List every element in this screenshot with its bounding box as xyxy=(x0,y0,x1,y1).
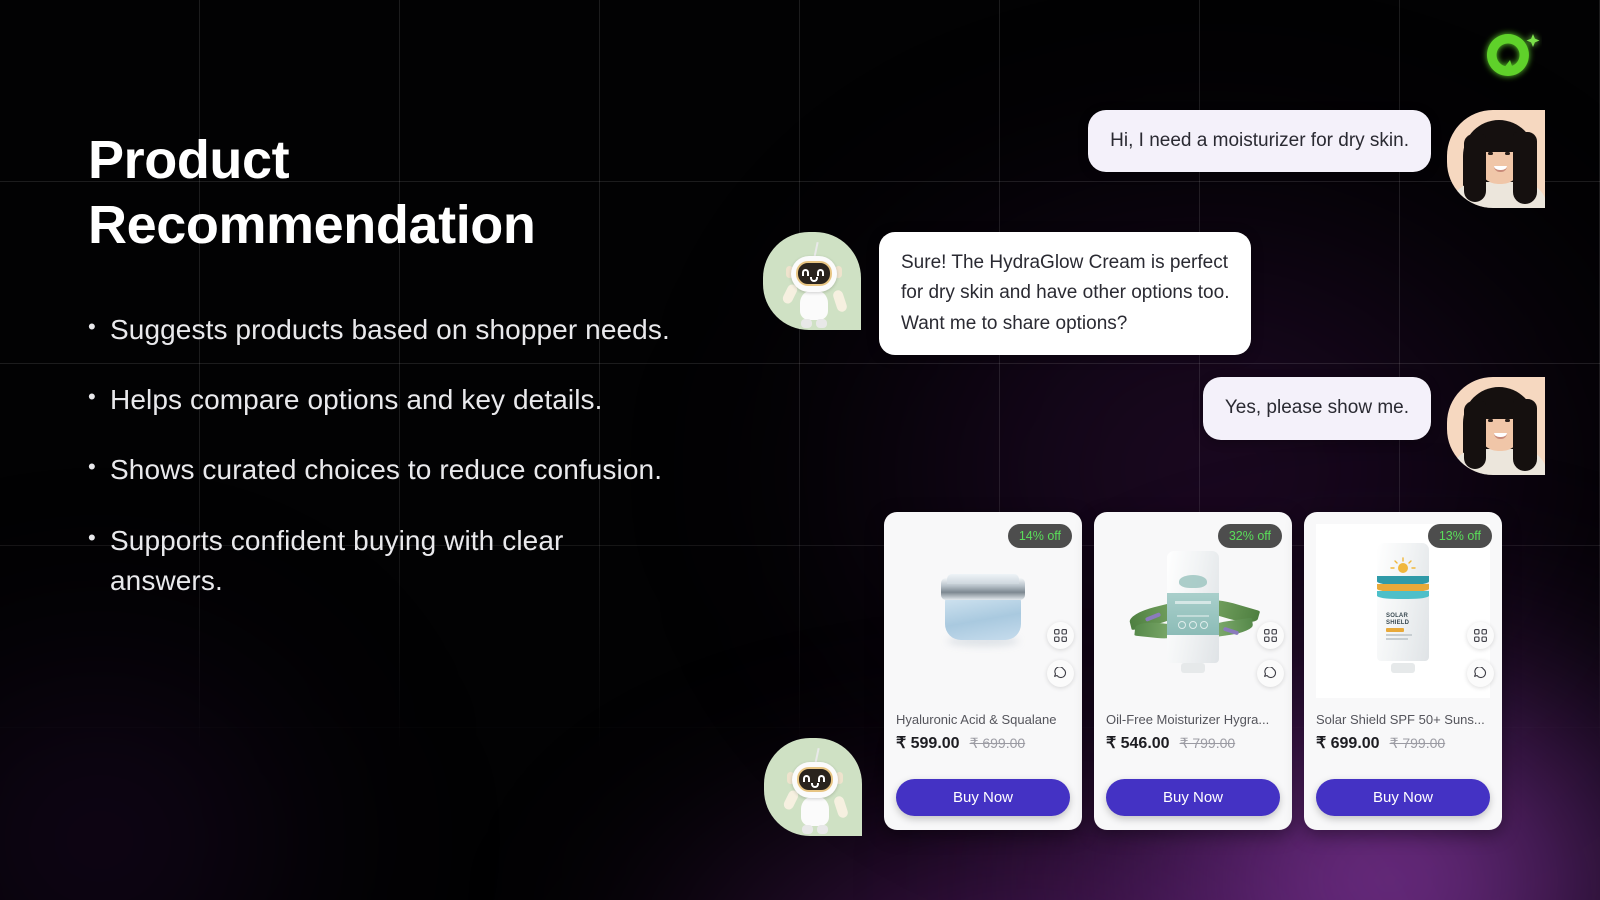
brand-logo xyxy=(1474,24,1542,92)
cream-jar-product-image-icon xyxy=(941,574,1025,640)
compare-button[interactable] xyxy=(1257,622,1284,649)
product-original-price: ₹ 799.00 xyxy=(1180,735,1236,752)
chat-bubble-icon xyxy=(1053,667,1068,681)
chat-conversation: Hi, I need a moisturizer for dry skin. xyxy=(755,110,1545,475)
user-avatar xyxy=(1447,110,1545,208)
bot-avatar xyxy=(763,232,861,330)
product-card[interactable]: 14% off Hyaluronic Aci xyxy=(884,512,1082,830)
feature-bullet-list: • Suggests products based on shopper nee… xyxy=(88,310,728,602)
chat-bubble-sparkle-logo-icon xyxy=(1474,24,1542,92)
bot-avatar-robot-icon xyxy=(764,738,862,836)
chat-bubble-bot: Sure! The HydraGlow Cream is perfect for… xyxy=(879,232,1251,355)
grid-four-dots-icon xyxy=(1474,629,1487,642)
bullet-text: Shows curated choices to reduce confusio… xyxy=(110,450,680,490)
discount-badge: 32% off xyxy=(1218,524,1282,548)
list-item: • Helps compare options and key details. xyxy=(88,380,728,420)
product-card[interactable]: 13% off SOLARSHIELD xyxy=(1304,512,1502,830)
user-avatar-woman-icon xyxy=(1447,377,1545,475)
product-image-area: 13% off SOLARSHIELD xyxy=(1304,512,1502,702)
user-avatar xyxy=(1447,377,1545,475)
product-chat-button[interactable] xyxy=(1257,660,1284,687)
chat-message-user: Yes, please show me. xyxy=(755,377,1545,475)
bullet-marker-icon: • xyxy=(88,311,110,343)
product-image-area: 32% off xyxy=(1094,512,1292,702)
discount-badge: 13% off xyxy=(1428,524,1492,548)
product-card[interactable]: 32% off xyxy=(1094,512,1292,830)
product-name: Hyaluronic Acid & Squalane xyxy=(896,712,1070,727)
product-card-list: 14% off Hyaluronic Aci xyxy=(884,512,1502,830)
bullet-marker-icon: • xyxy=(88,381,110,413)
discount-badge: 14% off xyxy=(1008,524,1072,548)
product-name: Solar Shield SPF 50+ Suns... xyxy=(1316,712,1490,727)
list-item: • Supports confident buying with clear a… xyxy=(88,521,728,602)
chat-bubble-icon xyxy=(1473,667,1488,681)
buy-now-button[interactable]: Buy Now xyxy=(896,779,1070,816)
bot-avatar-robot-icon xyxy=(763,232,861,330)
chat-message-user: Hi, I need a moisturizer for dry skin. xyxy=(755,110,1545,208)
bot-avatar xyxy=(764,738,862,836)
compare-button[interactable] xyxy=(1047,622,1074,649)
grid-four-dots-icon xyxy=(1054,629,1067,642)
product-original-price: ₹ 699.00 xyxy=(970,735,1026,752)
product-price: ₹ 599.00 xyxy=(896,733,960,753)
chat-bubble-user: Yes, please show me. xyxy=(1203,377,1431,439)
page-title: Product Recommendation xyxy=(88,128,728,258)
chat-bubble-icon xyxy=(1263,667,1278,681)
product-price: ₹ 546.00 xyxy=(1106,733,1170,753)
product-original-price: ₹ 799.00 xyxy=(1390,735,1446,752)
product-chat-button[interactable] xyxy=(1467,660,1494,687)
aloe-tube-product-image-icon xyxy=(1133,545,1253,670)
chat-bubble-user: Hi, I need a moisturizer for dry skin. xyxy=(1088,110,1431,172)
left-content-column: Product Recommendation • Suggests produc… xyxy=(88,128,728,631)
list-item: • Shows curated choices to reduce confus… xyxy=(88,450,728,490)
user-avatar-woman-icon xyxy=(1447,110,1545,208)
product-price: ₹ 699.00 xyxy=(1316,733,1380,753)
bullet-text: Suggests products based on shopper needs… xyxy=(110,310,680,350)
buy-now-button[interactable]: Buy Now xyxy=(1316,779,1490,816)
product-price-row: ₹ 546.00 ₹ 799.00 xyxy=(1106,733,1280,753)
background-glow-left xyxy=(0,610,360,900)
bullet-text: Helps compare options and key details. xyxy=(110,380,680,420)
compare-button[interactable] xyxy=(1467,622,1494,649)
product-name: Oil-Free Moisturizer Hygra... xyxy=(1106,712,1280,727)
product-price-row: ₹ 699.00 ₹ 799.00 xyxy=(1316,733,1490,753)
product-image-area: 14% off xyxy=(884,512,1082,702)
list-item: • Suggests products based on shopper nee… xyxy=(88,310,728,350)
buy-now-button[interactable]: Buy Now xyxy=(1106,779,1280,816)
product-chat-button[interactable] xyxy=(1047,660,1074,687)
product-price-row: ₹ 599.00 ₹ 699.00 xyxy=(896,733,1070,753)
bullet-marker-icon: • xyxy=(88,522,110,554)
bullet-text: Supports confident buying with clear ans… xyxy=(110,521,680,602)
sunscreen-tube-product-image-icon: SOLARSHIELD xyxy=(1377,543,1429,671)
grid-four-dots-icon xyxy=(1264,629,1277,642)
bullet-marker-icon: • xyxy=(88,451,110,483)
chat-message-bot: Sure! The HydraGlow Cream is perfect for… xyxy=(755,232,1545,355)
